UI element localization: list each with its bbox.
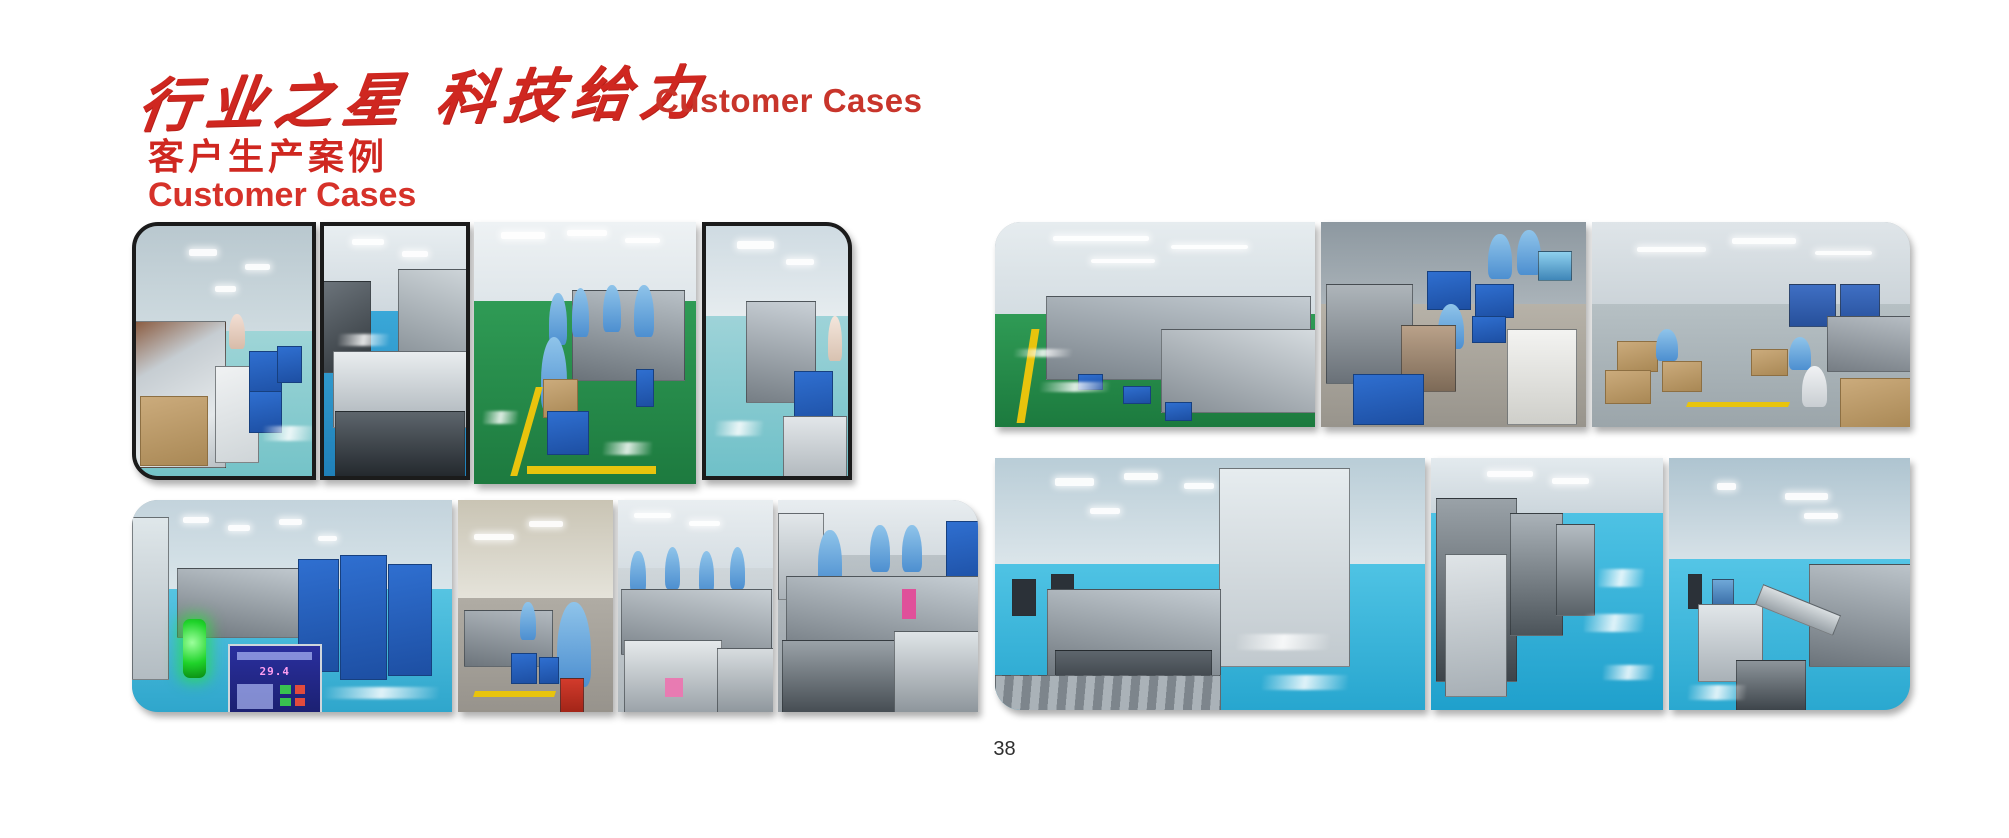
- feeder-rack: [1510, 513, 1563, 636]
- floor-reflection: [1598, 569, 1644, 587]
- ceiling-lamp: [1785, 493, 1828, 500]
- machine-frame-foreground: [782, 640, 904, 712]
- photo-blue-floor-hall-machine-bank[interactable]: [995, 458, 1425, 710]
- hmi-reading: 29.4: [230, 665, 320, 678]
- top-left-cluster: [132, 222, 978, 487]
- blue-crate: [636, 369, 654, 408]
- floor-reflection: [1014, 349, 1072, 357]
- floor-reflection: [1584, 614, 1644, 632]
- aisle-marking: [527, 466, 656, 474]
- photo-scene: [706, 226, 848, 476]
- ceiling-lamp: [474, 534, 514, 540]
- pink-part: [665, 678, 684, 697]
- photo-scene: [1592, 222, 1910, 427]
- photo-cartoning-hall-wide[interactable]: [1592, 222, 1910, 427]
- monitor: [1538, 251, 1572, 282]
- ceiling-lamp: [501, 232, 545, 239]
- ceiling-lamp: [352, 239, 383, 245]
- ceiling: [1669, 458, 1910, 559]
- carton-box-foreground: [1840, 378, 1910, 427]
- ceiling-lamp: [567, 230, 607, 237]
- work-stool: [1123, 386, 1151, 404]
- carton-box: [1605, 370, 1652, 405]
- hmi-button-green: [280, 698, 291, 706]
- photo-scene: [995, 222, 1315, 427]
- blue-crate-stack: [340, 555, 387, 680]
- ceiling-lamp: [1487, 471, 1533, 478]
- ceiling-lamp: [634, 513, 671, 519]
- ceiling-lamp: [1717, 483, 1736, 490]
- control-cabinet: [1445, 554, 1507, 697]
- work-stool: [1165, 402, 1193, 420]
- photo-assembly-machines-closeup[interactable]: [778, 500, 978, 712]
- machine-frame-foreground: [894, 631, 978, 712]
- ceiling-lamp: [737, 241, 774, 249]
- photo-conveyor-blue-floor-room[interactable]: [1669, 458, 1910, 710]
- ceiling-lamp: [183, 517, 209, 523]
- floor-reflection: [603, 442, 652, 455]
- slide-header: 行业之星 科技给力 Customer Cases 客户生产案例 Customer…: [0, 0, 2009, 215]
- wall-poster: [1012, 579, 1036, 616]
- machine-base-frame: [335, 411, 465, 478]
- ceiling-lamp: [228, 525, 250, 531]
- machine-foreground: [783, 416, 847, 478]
- ceiling-lamp: [529, 521, 563, 527]
- photo-feeder-racks-blue-aisle[interactable]: [1431, 458, 1663, 710]
- floor-reflection: [324, 687, 439, 700]
- carton-box: [140, 396, 209, 466]
- ceiling-lamp: [1091, 259, 1155, 263]
- machine-foreground: [717, 648, 773, 712]
- worker: [1656, 329, 1678, 362]
- machine-foreground: [624, 640, 722, 712]
- photo-scene: [458, 500, 613, 712]
- aisle-marking: [472, 691, 555, 697]
- blue-crate-stack: [388, 564, 432, 676]
- floor-reflection: [1262, 675, 1348, 690]
- green-tower-light: [183, 619, 205, 678]
- ceiling-lamp: [245, 264, 270, 271]
- ceiling-lamp: [1171, 245, 1248, 250]
- blue-crate: [511, 653, 538, 685]
- ceiling-lamp: [318, 536, 337, 541]
- photo-packing-station-trolley[interactable]: [1321, 222, 1586, 427]
- worker: [665, 547, 681, 589]
- floor-reflection: [338, 334, 389, 347]
- worker: [1488, 234, 1512, 279]
- ceiling-lamp: [1552, 478, 1589, 484]
- photo-scene: [324, 226, 466, 476]
- photo-long-green-floor-machine-row[interactable]: [995, 222, 1315, 427]
- floor-reflection: [1603, 665, 1654, 680]
- ceiling: [458, 500, 613, 598]
- worker: [634, 285, 654, 337]
- machine-foreground: [1161, 329, 1315, 413]
- ceiling-lamp: [625, 238, 661, 244]
- worker: [870, 525, 890, 572]
- photo-clean-corridor-equipment[interactable]: [702, 222, 852, 480]
- aisle-marking: [1686, 402, 1790, 407]
- floor-reflection: [263, 426, 316, 441]
- photo-hmi-green-tower-light[interactable]: 29.4: [132, 500, 452, 712]
- headline-customer-cases-en: Customer Cases: [655, 82, 922, 120]
- blue-crate: [539, 657, 560, 684]
- ceiling-lamp: [1124, 473, 1158, 480]
- blue-crate: [277, 346, 302, 383]
- worker: [630, 551, 646, 593]
- floor-reflection: [1040, 382, 1110, 392]
- ceiling-lamp: [1637, 247, 1707, 252]
- blue-crate: [547, 411, 589, 455]
- white-bale: [1507, 329, 1578, 425]
- carton-box: [1751, 349, 1788, 376]
- ceiling-lamp: [189, 249, 217, 257]
- page-number: 38: [0, 738, 2009, 761]
- photo-operator-workshop-wide[interactable]: [458, 500, 613, 712]
- subtitle-customer-cases-cn: 客户生产案例: [148, 128, 388, 180]
- ceiling: [136, 226, 312, 331]
- door-frame: [132, 517, 169, 680]
- photo-scene: [474, 222, 696, 484]
- photo-automated-line-blue-aisle[interactable]: [320, 222, 470, 480]
- worker: [603, 285, 621, 332]
- hmi-bar: [237, 652, 312, 660]
- worker: [520, 602, 536, 640]
- ceiling-lamp: [279, 519, 301, 525]
- photo-workers-green-floor-line[interactable]: [474, 222, 696, 484]
- blue-crate: [1472, 316, 1506, 343]
- blue-crate: [1475, 284, 1514, 319]
- top-right-cluster: [995, 222, 1910, 432]
- machine-row: [1827, 316, 1910, 371]
- ceiling-lamp: [1090, 508, 1120, 514]
- photo-scene: 29.4: [132, 500, 452, 712]
- hmi-button-red: [295, 685, 306, 693]
- photo-scene: [618, 500, 773, 712]
- bottom-left-cluster: 29.4: [132, 500, 978, 718]
- photo-scene: [1669, 458, 1910, 710]
- ceiling-lamp: [215, 286, 236, 292]
- ceiling-lamp: [1732, 238, 1796, 243]
- photo-scene: [778, 500, 978, 712]
- photo-clean-room-operators-line[interactable]: [618, 500, 773, 712]
- photo-scene: [1321, 222, 1586, 427]
- photo-scene: [136, 226, 312, 476]
- floor-reflection: [483, 411, 519, 424]
- photo-assembly-line-blue-floor-crates[interactable]: [132, 222, 316, 480]
- hmi-bar: [237, 684, 273, 708]
- feeder-rack: [1556, 524, 1595, 617]
- ceiling-lamp: [1055, 478, 1094, 486]
- hmi-panel: 29.4: [228, 644, 322, 712]
- worker: [902, 525, 922, 572]
- floor-reflection: [1236, 634, 1331, 649]
- ceiling-lamp: [1184, 483, 1214, 489]
- red-skirt: [560, 678, 584, 712]
- ceiling-lamp: [786, 259, 814, 265]
- carton-box: [1662, 361, 1702, 392]
- ceiling-lamp: [402, 251, 428, 257]
- ceiling: [995, 458, 1425, 564]
- machine-bank: [572, 290, 685, 381]
- machine-foreground: [1736, 660, 1805, 710]
- blue-crate-foreground: [1353, 374, 1424, 425]
- subtitle-customer-cases-en: Customer Cases: [148, 176, 416, 215]
- floor-reflection: [715, 421, 763, 436]
- hmi-button-red: [295, 698, 306, 706]
- ceiling-lamp: [1053, 236, 1149, 241]
- ceiling-lamp: [1815, 251, 1872, 256]
- photo-scene: [1431, 458, 1663, 710]
- bottom-right-cluster: [995, 458, 1910, 718]
- pink-part: [902, 589, 916, 619]
- ceiling-lamp: [1804, 513, 1838, 519]
- monitor: [1712, 579, 1733, 606]
- ceiling-lamp: [689, 521, 720, 526]
- conveyor-foreground: [995, 675, 1221, 710]
- carton-box: [1617, 341, 1657, 372]
- hmi-button-green: [280, 685, 291, 693]
- photo-scene: [995, 458, 1425, 710]
- floor-reflection: [1688, 685, 1746, 700]
